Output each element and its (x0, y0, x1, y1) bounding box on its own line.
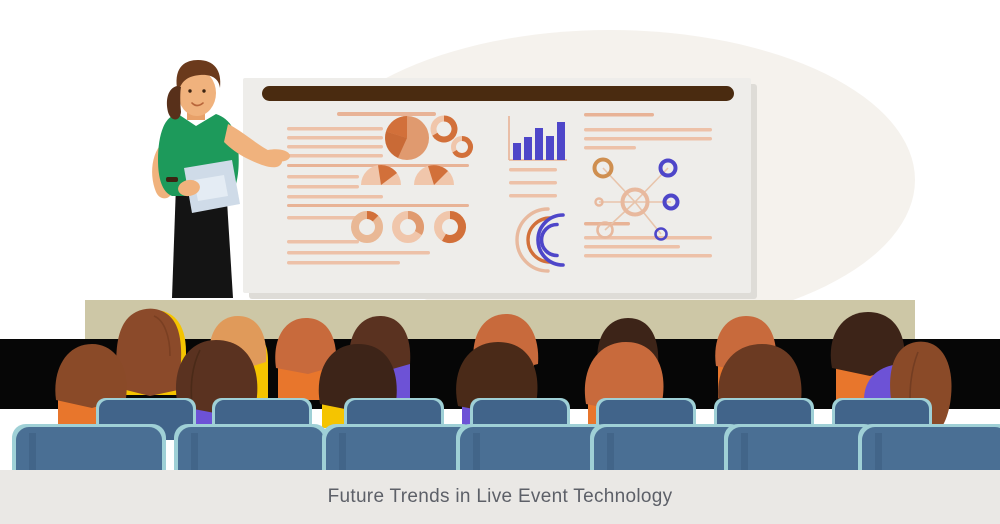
seat-front-1 (12, 424, 166, 470)
caption-title: Future Trends in Live Event Technology (328, 486, 673, 508)
seat-front-4 (456, 424, 610, 470)
seat-front-2 (174, 424, 328, 470)
bar-3 (535, 128, 543, 160)
seat-front-5 (590, 424, 744, 470)
seats-row-front (12, 424, 1000, 470)
seat-front-7 (858, 424, 1000, 470)
bar-4 (546, 136, 554, 160)
bar-1 (513, 143, 521, 160)
illustration-canvas: Future Trends in Live Event Technology (0, 0, 1000, 524)
seat-front-3 (322, 424, 476, 470)
presenter-eye-left (188, 89, 191, 92)
conference-scene (0, 0, 1000, 524)
bar-5 (557, 122, 565, 160)
caption-bar: Future Trends in Live Event Technology (0, 470, 1000, 524)
bar-2 (524, 137, 532, 160)
presenter-watch (166, 177, 178, 182)
slide-title-bar (262, 86, 734, 101)
chart-pie-chart-main (385, 116, 429, 160)
presenter-eye-right (202, 89, 205, 92)
presentation-slide-board (243, 78, 757, 299)
seat-front-6 (724, 424, 878, 470)
audience-member-2 (116, 309, 186, 396)
